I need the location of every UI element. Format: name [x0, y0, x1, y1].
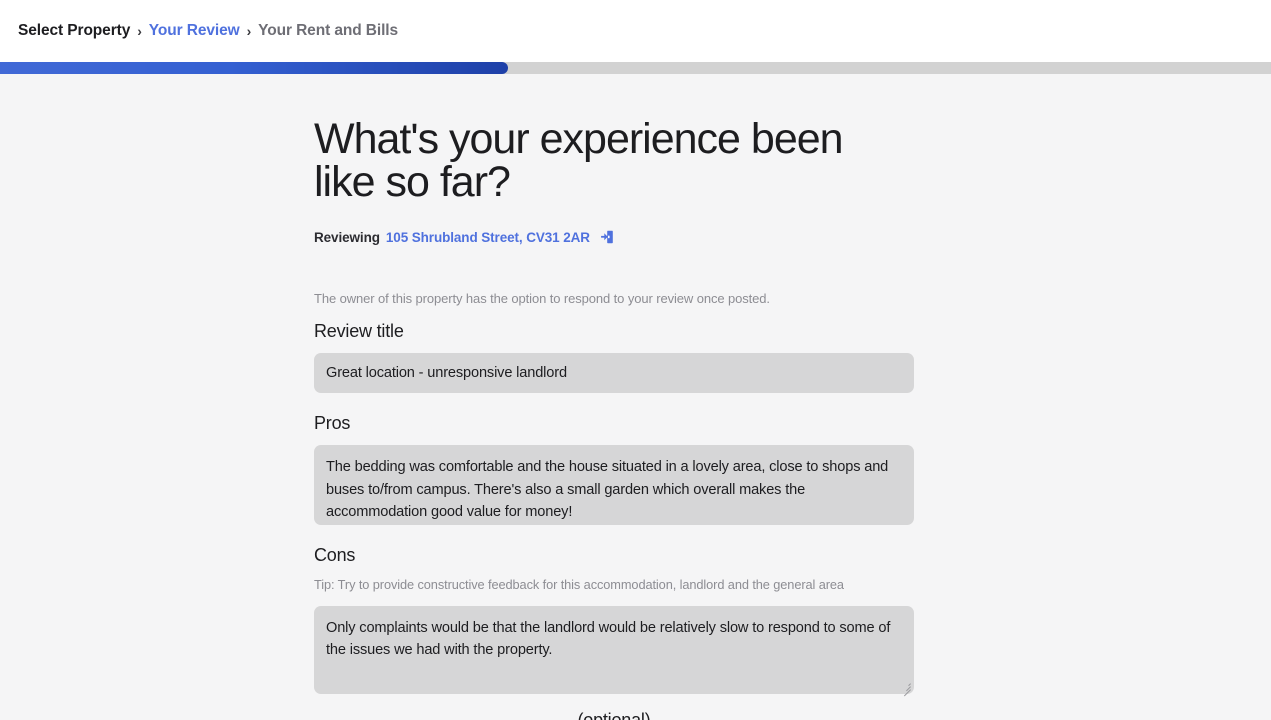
- breadcrumb: Select Property › Your Review › Your Ren…: [18, 22, 398, 40]
- page-body: What's your experience been like so far?…: [0, 74, 1271, 720]
- pros-textarea-wrapper: [314, 445, 914, 525]
- next-section-partial-heading: (optional): [314, 710, 914, 720]
- pros-textarea[interactable]: [314, 445, 914, 525]
- breadcrumb-item-your-rent-and-bills[interactable]: Your Rent and Bills: [258, 22, 398, 40]
- cons-tip-text: Tip: Try to provide constructive feedbac…: [314, 575, 874, 595]
- cons-label: Cons: [314, 545, 914, 566]
- chevron-right-icon: ›: [137, 23, 142, 39]
- review-title-label: Review title: [314, 321, 914, 342]
- owner-response-helper-text: The owner of this property has the optio…: [314, 289, 914, 309]
- cons-textarea[interactable]: [314, 606, 914, 694]
- reviewing-property-link[interactable]: 105 Shrubland Street, CV31 2AR: [386, 230, 590, 245]
- progress-bar-track: [0, 62, 1271, 74]
- page-title: What's your experience been like so far?: [314, 118, 914, 204]
- reviewing-row: Reviewing 105 Shrubland Street, CV31 2AR: [314, 230, 914, 245]
- pros-label: Pros: [314, 413, 914, 434]
- review-title-input[interactable]: [314, 353, 914, 393]
- open-in-new-icon[interactable]: [600, 230, 614, 244]
- breadcrumb-item-your-review[interactable]: Your Review: [149, 22, 240, 40]
- chevron-right-icon: ›: [247, 23, 252, 39]
- progress-bar-fill: [0, 62, 508, 74]
- cons-textarea-wrapper: [314, 606, 914, 694]
- form-container: What's your experience been like so far?…: [314, 118, 914, 720]
- reviewing-label: Reviewing: [314, 230, 380, 245]
- breadcrumb-item-select-property[interactable]: Select Property: [18, 22, 130, 40]
- top-bar: Select Property › Your Review › Your Ren…: [0, 0, 1271, 62]
